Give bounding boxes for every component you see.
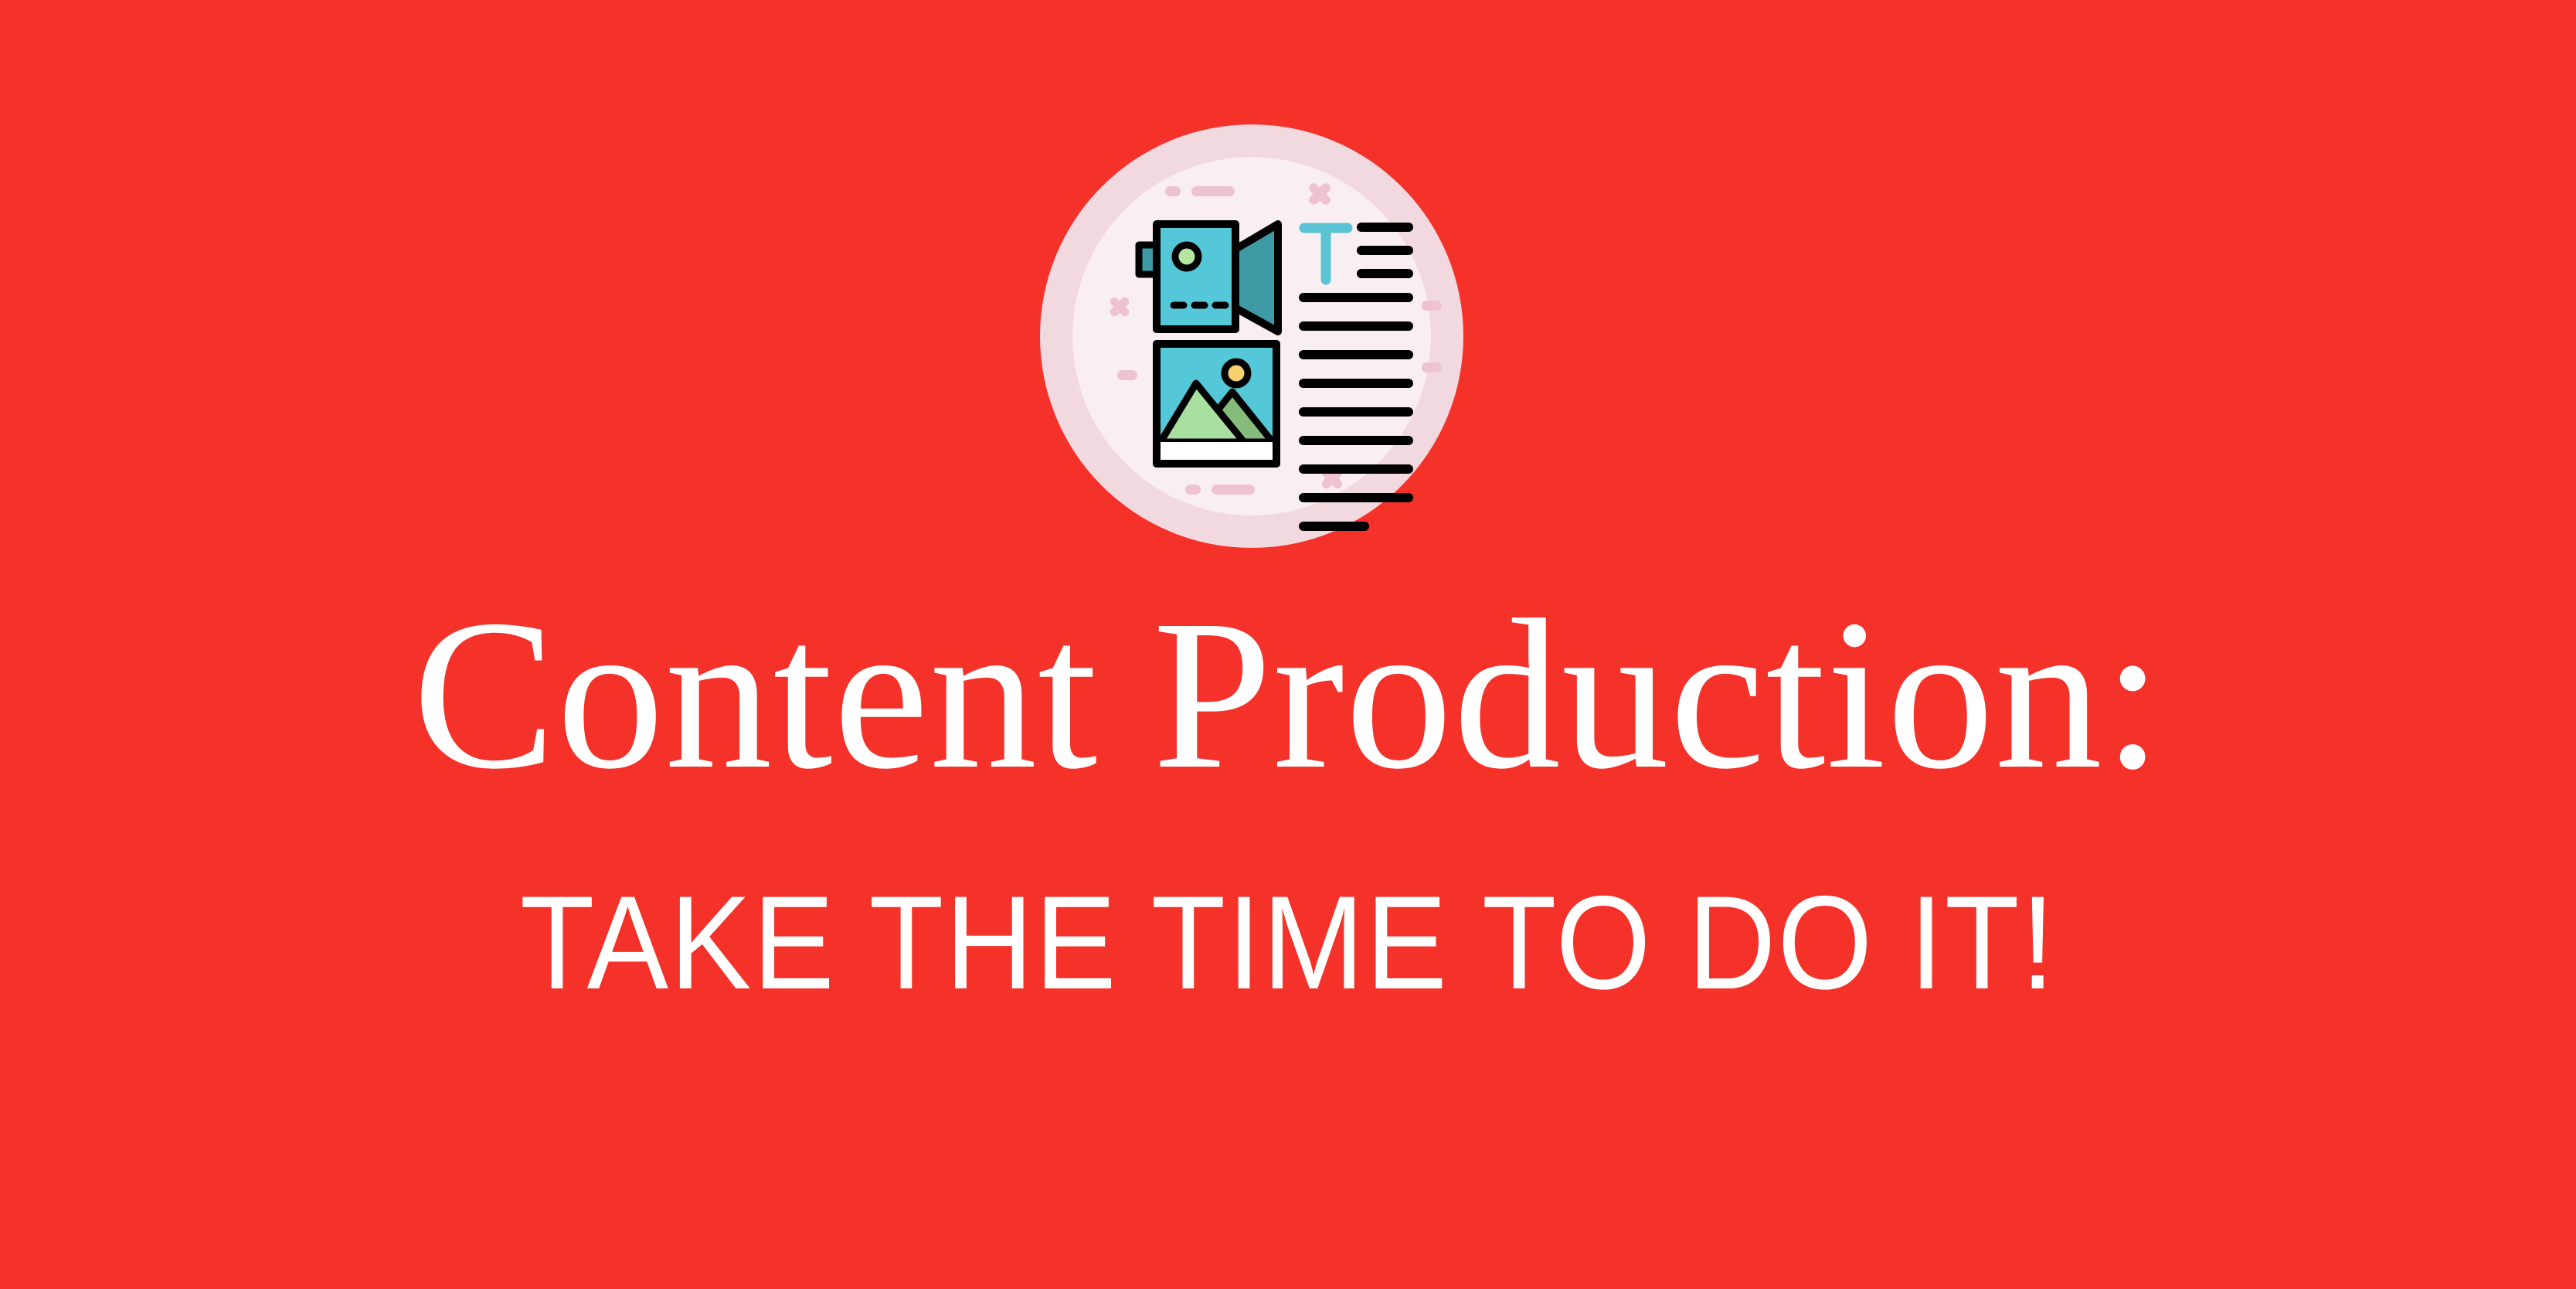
decor-dash-small-bottom xyxy=(1185,485,1201,495)
photo-icon xyxy=(1157,344,1276,464)
banner: Content Production: TAKE THE TIME TO DO … xyxy=(0,0,2576,1289)
video-camera-icon xyxy=(1139,224,1278,332)
photo-base-strip xyxy=(1161,442,1273,460)
camera-viewfinder-dot xyxy=(1175,245,1198,268)
decor-dash-small-top xyxy=(1165,186,1181,196)
decor-dash-large-bottom xyxy=(1212,485,1255,495)
decor-dash-right-upper xyxy=(1422,301,1442,311)
decor-dash-left xyxy=(1117,370,1137,380)
photo-sun xyxy=(1225,362,1248,385)
headline-block: Content Production: TAKE THE TIME TO DO … xyxy=(0,587,2576,1009)
decor-dash-right-lower xyxy=(1422,362,1442,372)
page-title: Content Production: xyxy=(0,587,2576,802)
content-production-badge xyxy=(1037,121,1466,551)
camera-body xyxy=(1157,224,1235,329)
decor-dash-large-top xyxy=(1191,186,1235,196)
page-subtitle: TAKE THE TIME TO DO IT! xyxy=(103,876,2472,1009)
